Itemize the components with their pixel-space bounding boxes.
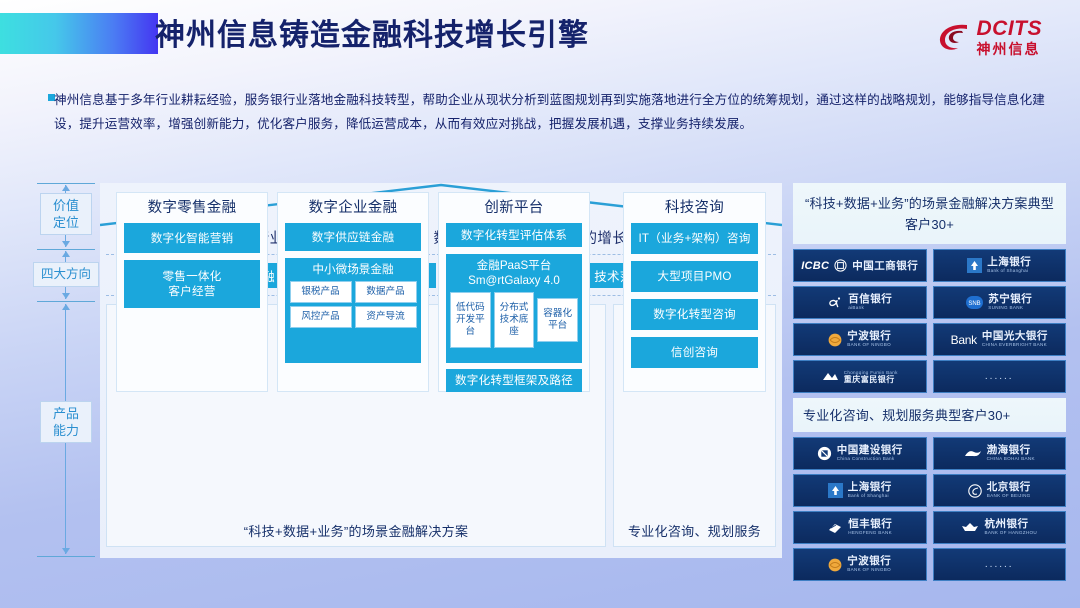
sub-platform-grid: 低代码开发平台 分布式技术底座 容器化平台 [450,292,578,348]
axis-chip-capability: 产品 能力 [40,401,92,443]
paas-title-line2: Sm@rtGalaxy 4.0 [468,274,560,287]
capability-group-financial-paas[interactable]: 金融PaaS平台 Sm@rtGalaxy 4.0 低代码开发平台 分布式技术底座… [446,254,582,363]
axis-chip-value: 价值 定位 [40,193,92,235]
dcits-logo: DCITS 神州信息 [937,18,1043,56]
logo-label-en: Bank of Shanghai [848,494,892,499]
logo-label-cn: 中国建设银行 [837,445,903,456]
icbc-wordmark-icon: ICBC [801,260,829,272]
bank-of-shanghai-icon [967,258,982,273]
customer-group1-heading: “科技+数据+业务”的场景金融解决方案典型客户30+ [793,183,1066,244]
sub-product-risk-control[interactable]: 风控产品 [290,306,352,328]
logo-label-cn: 北京银行 [987,482,1031,493]
customer-panel: “科技+数据+业务”的场景金融解决方案典型客户30+ ICBC 中国工商银行 上… [793,183,1066,558]
logo-label-en: HENGFENG BANK [848,531,892,536]
page-header: 神州信息铸造金融科技增长引擎 DCITS 神州信息 [0,0,1080,76]
logo-cell-bank-of-ningbo-2[interactable]: 宁波银行BANK OF NINGBO [793,548,927,581]
caption-scenario-solution: “科技+数据+业务”的场景金融解决方案 [106,521,606,540]
logo-label-cn: 苏宁银行 [988,294,1032,305]
hengfeng-bank-icon [827,521,843,535]
logo-cell-fumin-bank[interactable]: Chongqing Fumin Bank重庆富民银行 [793,360,927,393]
column-digital-retail-finance[interactable]: 数字零售金融 数字化智能营销 零售一体化 客户经营 [116,192,268,392]
logo-cell-aibank[interactable]: 百信银行aiBank [793,286,927,319]
ccb-icon [817,446,832,461]
header-accent-bar [0,13,158,54]
axis-chip-directions: 四大方向 [33,262,99,287]
bank-of-hangzhou-icon [961,522,979,534]
column-title: 数字企业金融 [285,199,421,217]
logo-label-en: BANK OF NINGBO [847,568,891,573]
strategy-diagram: 金融行业数字化转型的新动力，数云融合金融科技战略的增长引擎 数字金融 场景融合 … [100,183,782,558]
logo-label-cn: 渤海银行 [987,445,1035,456]
aibank-alpha-icon [827,295,843,311]
logo-cell-suning-bank[interactable]: SNB 苏宁银行SUNING BANK [933,286,1067,319]
capability-group-title: 中小微场景金融 [289,262,417,277]
capability-box-transformation-framework[interactable]: 数字化转型框架及路径 [446,369,582,392]
logo-label-en: China Construction Bank [837,457,903,462]
logo-cell-bank-of-beijing[interactable]: 北京银行BANK OF BEIJING [933,474,1067,507]
sub-platform-lowcode[interactable]: 低代码开发平台 [450,292,491,348]
dcits-swirl-icon [937,20,971,54]
axis-chip-value-line2: 定位 [53,215,79,230]
sub-platform-distributed[interactable]: 分布式技术底座 [494,292,535,348]
logo-label-cn: 重庆富民银行 [844,376,898,384]
capability-box-it-consulting[interactable]: IT（业务+架构）咨询 [631,223,758,254]
bank-of-ningbo-icon [828,333,842,347]
column-tech-consulting[interactable]: 科技咨询 IT（业务+架构）咨询 大型项目PMO 数字化转型咨询 信创咨询 [623,192,766,392]
logo-label-en: SUNING BANK [988,306,1032,311]
logo-label-en: BANK OF NINGBO [847,343,891,348]
column-innovation-platform[interactable]: 创新平台 数字化转型评估体系 金融PaaS平台 Sm@rtGalaxy 4.0 … [438,192,590,392]
suning-bank-icon: SNB [966,296,983,309]
logo-text-en: DCITS [977,18,1043,39]
left-axis-labels: 价值 定位 四大方向 产品 能力 [33,183,99,558]
column-title: 创新平台 [446,199,582,217]
column-title: 数字零售金融 [124,199,260,217]
sub-product-tax-bank[interactable]: 银税产品 [290,281,352,303]
bank-of-shanghai-icon [828,483,843,498]
logo-label-cn: 上海银行 [848,482,892,493]
bohai-bank-icon [964,448,982,459]
bank-of-ningbo-icon [828,558,842,572]
capability-box-smart-marketing[interactable]: 数字化智能营销 [124,223,260,253]
logo-cell-placeholder-2: ...... [933,548,1067,581]
capability-box-xinchuang-consulting[interactable]: 信创咨询 [631,337,758,368]
capability-group-sme-scenario-finance[interactable]: 中小微场景金融 银税产品 数据产品 风控产品 资产导流 [285,258,421,363]
axis-segment-value: 价值 定位 [33,183,99,249]
logo-label-cn: 宁波银行 [847,556,891,567]
paas-title-line1: 金融PaaS平台 [477,259,552,272]
capability-group-title: 金融PaaS平台 Sm@rtGalaxy 4.0 [450,258,578,288]
customer-logo-grid-2: 中国建设银行China Construction Bank 渤海银行CHINA … [793,432,1066,586]
sub-product-grid: 银税产品 数据产品 风控产品 资产导流 [289,281,417,328]
logo-cell-placeholder-1: ...... [933,360,1067,393]
logo-label-en: BANK OF HANGZHOU [984,531,1037,536]
everbright-wordmark-icon: Bank [951,333,977,347]
ellipsis-placeholder-icon: ...... [985,559,1014,570]
capability-box-large-project-pmo[interactable]: 大型项目PMO [631,261,758,292]
logo-label-cn: 宁波银行 [847,331,891,342]
logo-label-cn: 恒丰银行 [848,519,892,530]
page-title: 神州信息铸造金融科技增长引擎 [155,10,589,54]
bank-of-beijing-icon [968,484,982,498]
sub-product-data[interactable]: 数据产品 [355,281,417,303]
logo-cell-hengfeng-bank[interactable]: 恒丰银行HENGFENG BANK [793,511,927,544]
axis-segment-capability: 产品 能力 [33,301,99,557]
logo-cell-bank-of-shanghai[interactable]: 上海银行Bank of Shanghai [933,249,1067,282]
customer-logo-grid-1: ICBC 中国工商银行 上海银行Bank of Shanghai 百信银行aiB… [793,244,1066,398]
sub-product-asset-routing[interactable]: 资产导流 [355,306,417,328]
logo-cell-icbc[interactable]: ICBC 中国工商银行 [793,249,927,282]
logo-cell-everbright-bank[interactable]: Bank 中国光大银行CHINA EVERBRIGHT BANK [933,323,1067,356]
axis-chip-value-line1: 价值 [53,198,79,213]
capability-box-supply-chain-finance[interactable]: 数字供应链金融 [285,223,421,251]
logo-cell-bank-of-shanghai-2[interactable]: 上海银行Bank of Shanghai [793,474,927,507]
axis-segment-directions: 四大方向 [33,249,99,301]
axis-chip-capability-line1: 产品 [53,406,79,421]
intro-paragraph: 神州信息基于多年行业耕耘经验，服务银行业落地金融科技转型，帮助企业从现状分析到蓝… [54,88,1045,136]
logo-cell-bank-of-ningbo[interactable]: 宁波银行BANK OF NINGBO [793,323,927,356]
logo-cell-ccb[interactable]: 中国建设银行China Construction Bank [793,437,927,470]
axis-chip-capability-line2: 能力 [53,423,79,438]
sub-platform-container[interactable]: 容器化平台 [537,298,578,342]
logo-label-en: CHINA BOHAI BANK [987,457,1035,462]
logo-label-cn: 上海银行 [987,257,1031,268]
caption-consulting-service: 专业化咨询、规划服务 [613,521,776,540]
icbc-seal-icon [834,259,847,272]
capability-box-transformation-consulting[interactable]: 数字化转型咨询 [631,299,758,330]
logo-label-en: Bank of Shanghai [987,269,1031,274]
logo-label-cn: 百信银行 [848,294,892,305]
column-digital-enterprise-finance[interactable]: 数字企业金融 数字供应链金融 中小微场景金融 银税产品 数据产品 风控产品 资产… [277,192,429,392]
logo-label-en: BANK OF BEIJING [987,494,1031,499]
capability-box-transformation-assessment[interactable]: 数字化转型评估体系 [446,223,582,247]
capability-box-line2: 客户经营 [168,284,215,299]
logo-label-en: CHINA EVERBRIGHT BANK [982,343,1048,348]
column-title: 科技咨询 [631,199,758,217]
logo-label-en: aiBank [848,306,892,311]
logo-label-cn: 中国工商银行 [852,258,918,273]
logo-text-cn: 神州信息 [977,42,1043,56]
logo-label-cn: 中国光大银行 [982,331,1048,342]
fumin-bank-icon [822,371,839,382]
logo-cell-bohai-bank[interactable]: 渤海银行CHINA BOHAI BANK [933,437,1067,470]
svg-text:SNB: SNB [969,301,981,307]
capability-box-line1: 零售一体化 [163,269,222,284]
logo-cell-bank-of-hangzhou[interactable]: 杭州银行BANK OF HANGZHOU [933,511,1067,544]
logo-label-cn: 杭州银行 [984,519,1037,530]
ellipsis-placeholder-icon: ...... [985,371,1014,382]
intro-block: 神州信息基于多年行业耕耘经验，服务银行业落地金融科技转型，帮助企业从现状分析到蓝… [30,82,1055,164]
capability-box-retail-integration[interactable]: 零售一体化 客户经营 [124,260,260,308]
customer-group2-heading: 专业化咨询、规划服务典型客户30+ [793,398,1066,432]
